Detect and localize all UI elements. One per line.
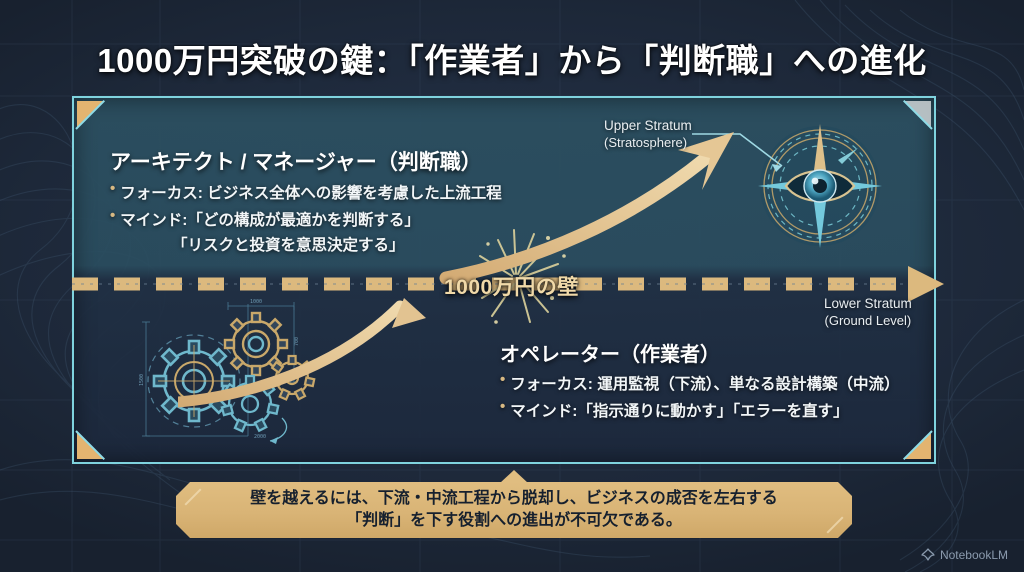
watermark-label: NotebookLM: [940, 548, 1008, 562]
lower-stratum-label: Lower Stratum (Ground Level): [824, 296, 912, 329]
banner-line-1: 壁を越えるには、下流・中流工程から脱却し、ビジネスの成否を左右する: [250, 488, 778, 510]
wall-label: 1000万円の壁: [444, 271, 579, 301]
lower-stratum-line2: (Ground Level): [824, 313, 912, 329]
operator-heading: オペレーター（作業者）: [500, 338, 900, 367]
corner-accent-top-right: [890, 98, 934, 142]
bullet-icon: •: [110, 181, 115, 198]
slide-canvas: 1000万円突破の鍵：「作業者」から「判断職」への進化: [0, 0, 1024, 572]
lower-stratum-line1: Lower Stratum: [824, 296, 912, 313]
architect-mind-text-2: 「リスクと投資を意思決定する」: [110, 233, 502, 255]
architect-focus-row: • フォーカス: ビジネス全体への影響を考慮した上流工程: [110, 181, 502, 203]
bullet-icon: •: [500, 399, 505, 416]
operator-focus-row: • フォーカス: 運用監視（下流）、単なる設計構築（中流）: [500, 372, 900, 394]
bullet-icon: •: [500, 372, 505, 389]
architect-focus-text: フォーカス: ビジネス全体への影響を考慮した上流工程: [120, 181, 501, 203]
operator-block: オペレーター（作業者） • フォーカス: 運用監視（下流）、単なる設計構築（中流…: [500, 338, 900, 421]
operator-mind-row: • マインド:「指示通りに動かす」「エラーを直す」: [500, 399, 900, 421]
upper-stratum-line2: (Stratosphere): [604, 135, 692, 151]
architect-heading: アーキテクト / マネージャー（判断職）: [110, 146, 502, 176]
notebooklm-logo-icon: [921, 548, 935, 562]
corner-accent-bottom-left: [74, 418, 118, 462]
notebooklm-watermark: NotebookLM: [921, 548, 1008, 562]
gear-dim-bottom: 2000: [254, 434, 266, 440]
operator-mind-text: マインド:「指示通りに動かす」「エラーを直す」: [510, 399, 848, 421]
conclusion-banner: 壁を越えるには、下流・中流工程から脱却し、ビジネスの成否を左右する 「判断」を下…: [176, 482, 852, 538]
architect-mind-row: • マインド:「どの構成が最適かを判断する」: [110, 208, 502, 230]
corner-accent-bottom-right: [890, 418, 934, 462]
banner-notch-icon: [500, 470, 528, 483]
architect-mind-text: マインド:「どの構成が最適かを判断する」: [120, 208, 420, 230]
operator-focus-text: フォーカス: 運用監視（下流）、単なる設計構築（中流）: [510, 372, 899, 394]
gear-dim-left: 1500: [139, 374, 145, 386]
corner-accent-top-left: [74, 98, 118, 142]
architect-block: アーキテクト / マネージャー（判断職） • フォーカス: ビジネス全体への影響…: [110, 146, 502, 255]
slide-title-area: 1000万円突破の鍵：「作業者」から「判断職」への進化: [0, 26, 1024, 90]
upper-stratum-line1: Upper Stratum: [604, 118, 692, 135]
page-title: 1000万円突破の鍵：「作業者」から「判断職」への進化: [97, 34, 926, 82]
bullet-icon: •: [110, 208, 115, 225]
banner-line-2: 「判断」を下す役割への進出が不可欠である。: [346, 510, 682, 532]
upper-stratum-label: Upper Stratum (Stratosphere): [604, 118, 692, 151]
